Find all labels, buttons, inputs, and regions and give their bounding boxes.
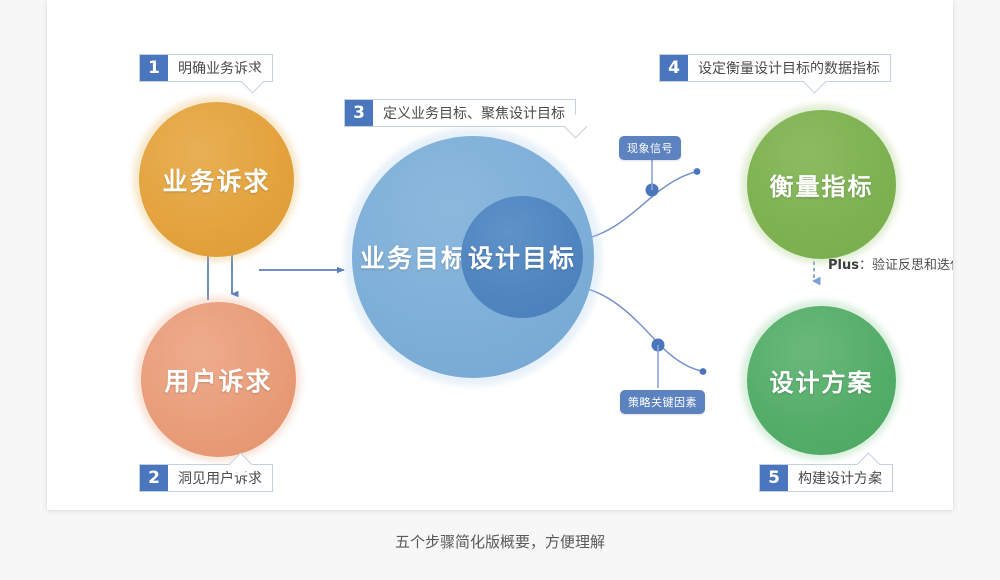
- step-number: 3: [345, 100, 373, 126]
- step-label: 设定衡量设计目标的数据指标: [688, 55, 890, 81]
- curve-endpoint-metric: [694, 168, 701, 175]
- step-label: 定义业务目标、聚焦设计目标: [373, 100, 575, 126]
- bubble-plan[interactable]: 设计方案: [747, 306, 896, 455]
- step-callout-3[interactable]: 3 定义业务目标、聚焦设计目标: [344, 99, 576, 127]
- curve-node-signal: [646, 184, 659, 197]
- tag-signal[interactable]: 现象信号: [619, 136, 681, 160]
- curve-goal-to-plan: [584, 288, 701, 371]
- step-number: 4: [660, 55, 688, 81]
- step-label: 构建设计方案: [788, 465, 892, 491]
- bubble-label: 设计目标: [468, 239, 576, 275]
- curve-node-factor: [652, 339, 665, 352]
- plus-text: ：验证反思和迭代: [859, 258, 953, 273]
- step-number: 1: [140, 55, 168, 81]
- bubble-label: 业务诉求: [162, 162, 270, 198]
- figure-caption: 五个步骤简化版概要，方便理解: [0, 531, 1000, 552]
- step-callout-2[interactable]: 2 洞见用户诉求: [139, 464, 273, 492]
- bubble-label: 用户诉求: [164, 362, 272, 398]
- bubble-label: 衡量指标: [770, 167, 874, 202]
- curve-goal-to-metric: [584, 172, 695, 239]
- curve-endpoint-plan: [700, 368, 707, 375]
- bubble-metric[interactable]: 衡量指标: [747, 110, 896, 259]
- step-callout-5[interactable]: 5 构建设计方案: [759, 464, 893, 492]
- plus-note: Plus：验证反思和迭代: [828, 254, 953, 273]
- step-number: 5: [760, 465, 788, 491]
- plus-word: Plus: [828, 258, 859, 273]
- diagram-card: 业务诉求 用户诉求 业务目标 设计目标 衡量指标 设计方案 1 明确业务诉求 2: [47, 0, 953, 510]
- diagram-stage: 业务诉求 用户诉求 业务目标 设计目标 衡量指标 设计方案 1 明确业务诉求 2: [47, 0, 953, 510]
- step-callout-4[interactable]: 4 设定衡量设计目标的数据指标: [659, 54, 891, 82]
- step-number: 2: [140, 465, 168, 491]
- bubble-label: 业务目标: [360, 239, 468, 275]
- tag-key-factor[interactable]: 策略关键因素: [620, 390, 705, 414]
- bubble-business-demand[interactable]: 业务诉求: [139, 102, 294, 257]
- step-callout-1[interactable]: 1 明确业务诉求: [139, 54, 273, 82]
- bubble-label: 设计方案: [770, 363, 874, 398]
- step-label: 洞见用户诉求: [168, 465, 272, 491]
- bubble-design-goal[interactable]: 设计目标: [461, 196, 583, 318]
- bubble-user-demand[interactable]: 用户诉求: [141, 302, 296, 457]
